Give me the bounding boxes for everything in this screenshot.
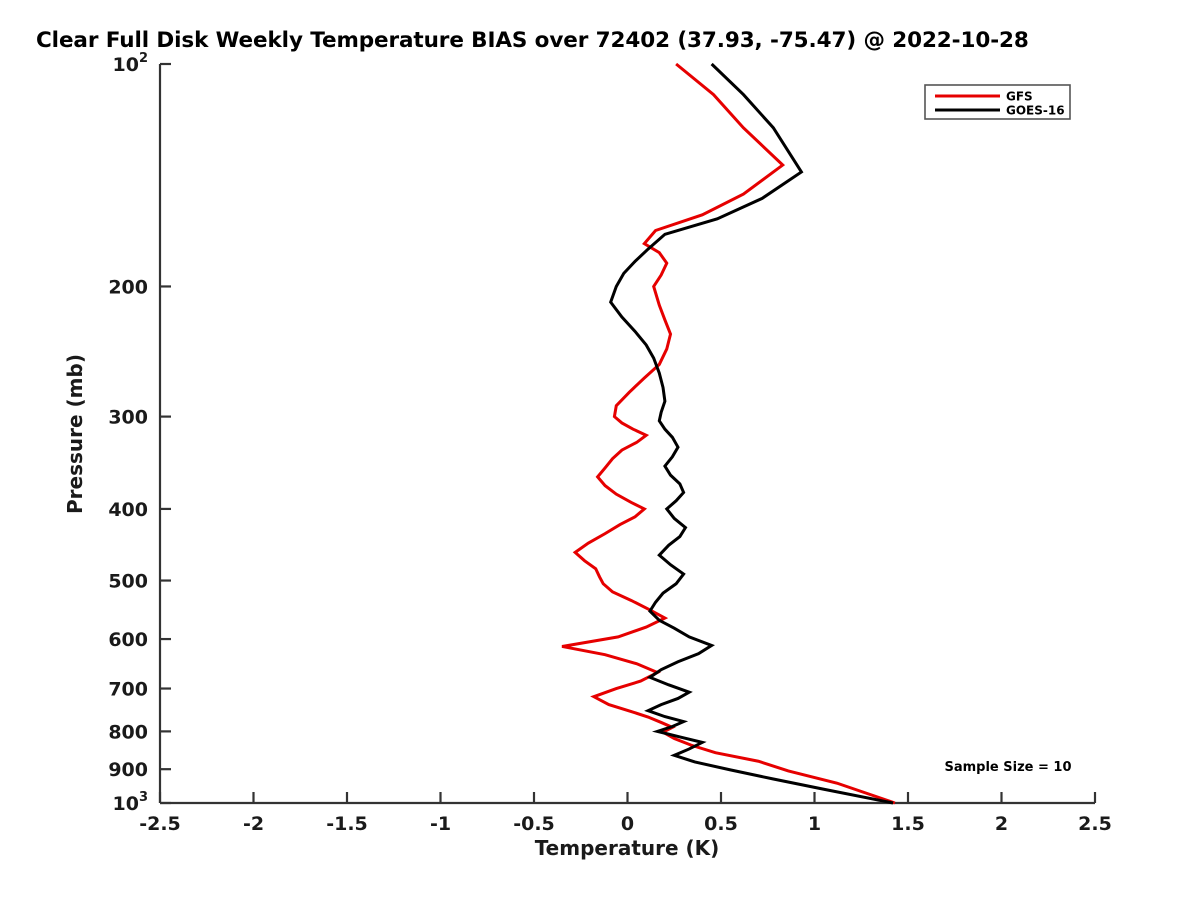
x-axis-title: Temperature (K)	[535, 836, 720, 860]
y-tick-label: 500	[108, 571, 148, 593]
chart-figure: Clear Full Disk Weekly Temperature BIAS …	[0, 0, 1200, 900]
y-tick-label: 300	[108, 407, 148, 429]
x-axis-ticks: -2.5-2-1.5-1-0.500.511.522.5	[139, 792, 1112, 835]
plot-canvas: -2.5-2-1.5-1-0.500.511.522.5 10220030040…	[0, 0, 1200, 900]
legend-label-goes-16: GOES-16	[1006, 104, 1065, 118]
x-tick-label: -1	[430, 813, 451, 835]
x-tick-label: 1.5	[891, 813, 925, 835]
x-tick-label: -2	[243, 813, 264, 835]
y-tick-label: 103	[113, 790, 149, 815]
y-tick-label: 800	[108, 721, 148, 743]
x-tick-label: 1	[808, 813, 821, 835]
legend-label-gfs: GFS	[1006, 90, 1033, 104]
x-tick-label: -1.5	[326, 813, 368, 835]
y-tick-label: 600	[108, 629, 148, 651]
series-line-gfs	[562, 64, 895, 803]
data-series-group	[562, 64, 895, 803]
x-tick-label: -2.5	[139, 813, 181, 835]
y-tick-label: 700	[108, 679, 148, 701]
y-tick-label: 900	[108, 759, 148, 781]
x-tick-label: 2	[995, 813, 1008, 835]
chart-legend[interactable]: GFSGOES-16	[925, 85, 1070, 119]
x-tick-label: 2.5	[1078, 813, 1112, 835]
y-axis-ticks: 102200300400500600700800900103	[108, 51, 171, 815]
y-axis-title: Pressure (mb)	[63, 354, 87, 514]
y-tick-label: 400	[108, 499, 148, 521]
x-tick-label: 0	[621, 813, 634, 835]
sample-size-annotation: Sample Size = 10	[944, 760, 1071, 775]
y-tick-label: 200	[108, 276, 148, 298]
series-line-goes-16	[611, 64, 893, 803]
y-tick-label: 102	[113, 51, 149, 76]
x-tick-label: -0.5	[513, 813, 555, 835]
x-tick-label: 0.5	[704, 813, 738, 835]
